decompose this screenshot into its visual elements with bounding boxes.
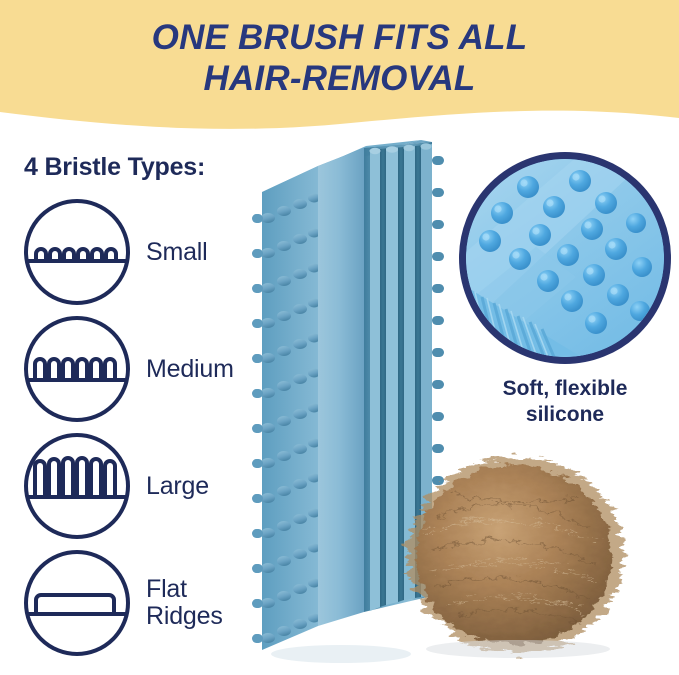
bristle-row-small: Small bbox=[22, 196, 252, 308]
bristle-label-flat-line2: Ridges bbox=[146, 602, 223, 630]
page-title: ONE BRUSH FITS ALL HAIR-REMOVAL bbox=[0, 17, 679, 99]
bristle-label-flat-line1: Flat bbox=[146, 575, 187, 603]
bristle-row-flat-ridges: Flat Ridges bbox=[22, 547, 252, 659]
brush-nubs-edge bbox=[252, 214, 263, 643]
bristle-row-medium: Medium bbox=[22, 313, 252, 425]
bristle-label-large: Large bbox=[146, 473, 209, 500]
bristle-label-medium: Medium bbox=[146, 356, 234, 383]
bristle-small-icon bbox=[22, 197, 132, 307]
hairball-svg bbox=[396, 447, 638, 663]
bristle-types-panel: 4 Bristle Types: Small bbox=[0, 148, 250, 658]
silicone-closeup-inner bbox=[466, 159, 664, 357]
page-title-line1: ONE BRUSH FITS ALL bbox=[152, 18, 528, 57]
silicone-closeup-photo bbox=[459, 152, 671, 364]
bristle-row-large: Large bbox=[22, 430, 252, 542]
bristle-label-small: Small bbox=[146, 239, 208, 266]
macro-caption-line2: silicone bbox=[455, 402, 675, 428]
hairball-image bbox=[396, 447, 638, 663]
bristle-medium-icon bbox=[22, 314, 132, 424]
macro-caption-line1: Soft, flexible bbox=[503, 377, 628, 400]
page-title-line2: HAIR-REMOVAL bbox=[0, 58, 679, 99]
silicone-macro-svg bbox=[466, 159, 664, 357]
bristle-large-icon bbox=[22, 431, 132, 541]
bristle-types-heading: 4 Bristle Types: bbox=[24, 153, 205, 182]
macro-caption: Soft, flexible silicone bbox=[455, 376, 675, 428]
bristle-label-flat-ridges: Flat Ridges bbox=[146, 576, 223, 630]
bristle-flat-icon bbox=[22, 548, 132, 658]
